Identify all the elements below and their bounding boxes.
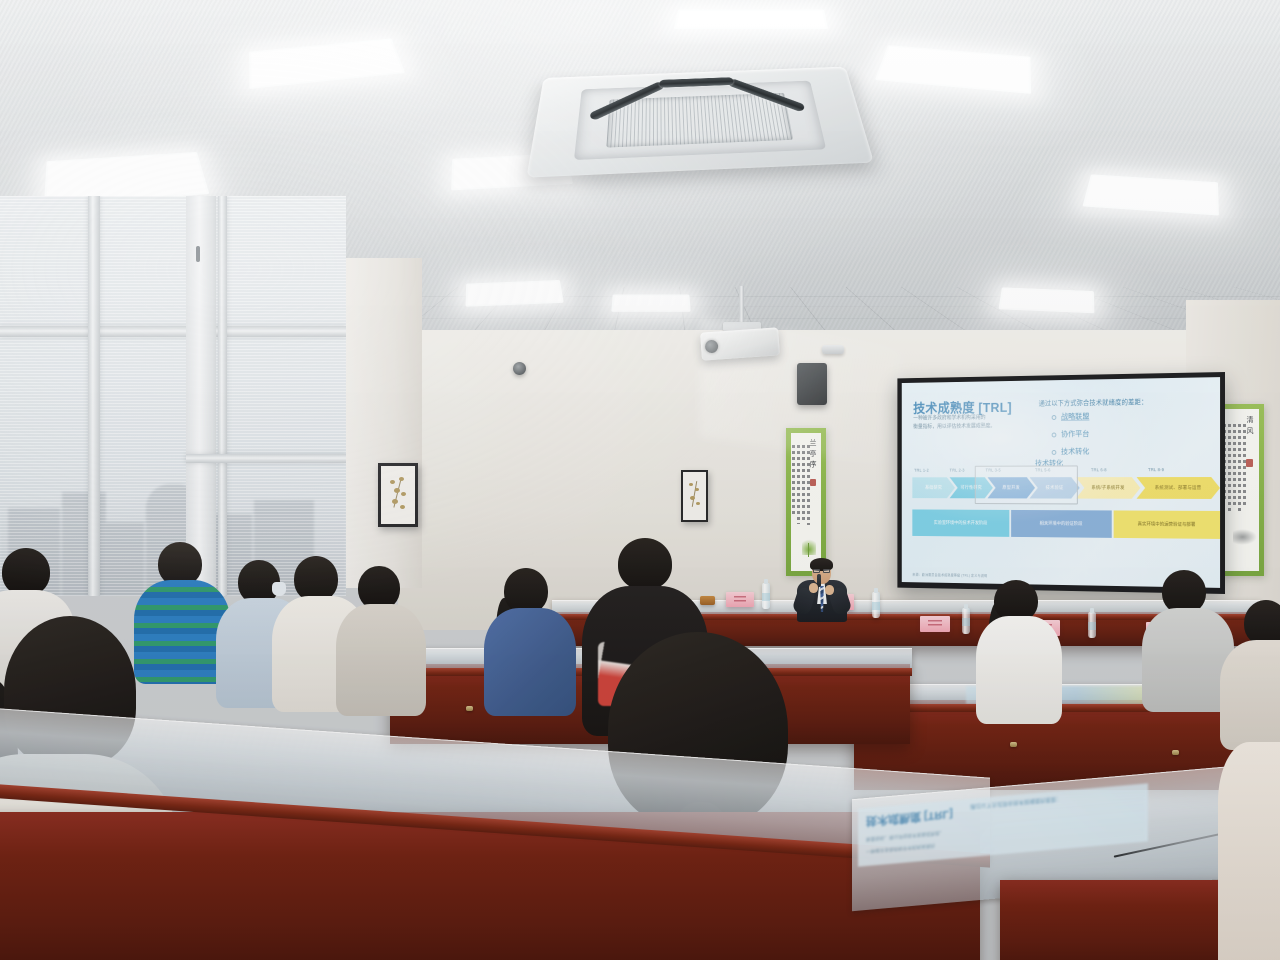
trl-label: TRL 6-8 bbox=[1091, 467, 1107, 472]
slide-reflection: 技术成熟度 [TRL] 通过以下方式弥合技术就绪度的差距： 衡量指标，用以评估技… bbox=[858, 783, 1148, 866]
trl-label: TRL 1-2 bbox=[914, 468, 929, 473]
slide-source-note: 来源：欧洲委员会技术成熟度等级 (TRL) 定义与说明 bbox=[912, 572, 987, 578]
framed-botanical-art bbox=[378, 463, 418, 527]
scroll-brush-mark bbox=[1233, 529, 1257, 545]
ceiling-cassette-air-conditioner bbox=[526, 67, 874, 178]
window-mullion-vertical bbox=[88, 196, 100, 596]
scroll-title-text: 清 风 bbox=[1245, 416, 1255, 435]
table-drawer-knob bbox=[1010, 742, 1017, 747]
window-mullion-vertical bbox=[218, 196, 227, 596]
art-leaf bbox=[695, 488, 699, 491]
reflected-slide-title: 技术成熟度 [TRL] bbox=[866, 806, 953, 830]
glasses-lens-left bbox=[813, 569, 820, 573]
slide-subtitle-line2: 衡量指标，用以评估技术发展成熟度。 bbox=[913, 423, 1028, 433]
slide-bullet: 战略联盟 bbox=[1052, 411, 1090, 422]
scroll-seal-stamp bbox=[1246, 459, 1253, 467]
water-bottle bbox=[872, 592, 880, 618]
art-leaf bbox=[689, 483, 693, 486]
smoke-detector-icon bbox=[822, 345, 844, 354]
glasses-lens-right bbox=[823, 569, 830, 573]
presenter-hand bbox=[825, 585, 834, 595]
art-leaf bbox=[690, 496, 695, 500]
slide-right-heading: 通过以下方式弥合技术就绪度的差距： bbox=[1039, 396, 1148, 407]
scroll-calligraphy-column bbox=[792, 445, 795, 514]
scroll-calligraphy-column bbox=[1238, 424, 1241, 515]
torso bbox=[336, 604, 426, 716]
name-card bbox=[726, 592, 754, 607]
slide-bullet-list: 战略联盟 协作平台 技术转化 bbox=[1052, 411, 1090, 464]
presenter-hand bbox=[809, 583, 818, 593]
trl-label: TRL 2-3 bbox=[950, 468, 965, 473]
trl-band: 相关环境中的验证阶段 bbox=[1011, 510, 1112, 538]
ceiling-light-panel bbox=[674, 10, 828, 29]
face-mask bbox=[272, 582, 286, 596]
head bbox=[618, 538, 672, 590]
ceiling-projector bbox=[700, 327, 780, 360]
projector-lens-icon bbox=[705, 340, 719, 354]
scroll-plant-stem bbox=[808, 543, 809, 557]
window-latch bbox=[196, 246, 200, 262]
scroll-paper: 清 风 bbox=[1221, 409, 1259, 571]
torso bbox=[1218, 742, 1280, 960]
art-leaf bbox=[401, 492, 406, 496]
water-bottle bbox=[962, 608, 970, 634]
slide-content: 技术成熟度 [TRL] 一种被许多政府和学术机构采用的 衡量指标，用以评估技术发… bbox=[902, 377, 1220, 588]
ceiling-light-panel bbox=[465, 280, 563, 307]
window-mullion-horizontal bbox=[186, 454, 346, 463]
window-wall bbox=[0, 196, 346, 596]
art-leaf bbox=[394, 488, 400, 493]
water-bottle bbox=[1088, 612, 1096, 638]
ceiling-light-panel bbox=[998, 287, 1094, 313]
trl-stage-chevron: 系统/子系统开发 bbox=[1076, 477, 1140, 499]
reflected-slide-heading: 通过以下方式弥合技术就绪度的差距： bbox=[970, 795, 1062, 811]
scroll-calligraphy-column bbox=[1228, 424, 1231, 513]
art-leaf bbox=[390, 480, 395, 484]
window-mullion-horizontal bbox=[0, 326, 346, 337]
presenter-glasses-icon bbox=[813, 569, 830, 573]
trl-highlight-box bbox=[975, 465, 1078, 504]
art-leaf bbox=[392, 499, 398, 504]
art-leaf bbox=[400, 505, 405, 509]
head bbox=[2, 548, 50, 596]
scroll-paper: 兰 亭 序 bbox=[791, 433, 821, 571]
projector-mount-pole bbox=[739, 286, 744, 324]
name-card bbox=[920, 616, 950, 632]
ceiling-camera-icon bbox=[513, 362, 526, 375]
ceiling-light-panel bbox=[611, 294, 690, 311]
framed-botanical-art bbox=[681, 470, 708, 522]
trl-band: 真实环境中的运营验证与部署 bbox=[1114, 510, 1220, 539]
scroll-calligraphy-column bbox=[1233, 424, 1236, 505]
scroll-seal-stamp bbox=[810, 479, 816, 486]
roller-shade-texture bbox=[0, 196, 346, 596]
window-frame-post bbox=[186, 196, 216, 596]
reflected-slide-subtitle2: 一种被许多政府和学术机构采用的 bbox=[866, 842, 935, 854]
torso bbox=[484, 608, 576, 716]
art-leaf bbox=[696, 502, 700, 505]
art-matting bbox=[683, 472, 706, 520]
scroll-plant-illustration bbox=[802, 537, 816, 555]
slide-bullet: 技术转化 bbox=[1052, 446, 1090, 457]
table-drawer-knob bbox=[1172, 750, 1179, 755]
torso bbox=[1220, 640, 1280, 750]
scroll-calligraphy-column bbox=[802, 445, 805, 520]
scroll-calligraphy-column bbox=[797, 445, 800, 524]
trl-stage-chevron: 基础研究 bbox=[912, 477, 955, 498]
trl-stage-chevron: 系统测试、部署与运营 bbox=[1137, 477, 1221, 499]
art-leaf bbox=[399, 477, 404, 481]
slide-subtitle: 一种被许多政府和学术机构采用的 衡量指标，用以评估技术发展成熟度。 bbox=[913, 413, 1028, 432]
art-matting bbox=[381, 466, 415, 524]
wall-scroll-left: 兰 亭 序 bbox=[786, 428, 826, 576]
projection-screen[interactable]: 技术成熟度 [TRL] 一种被许多政府和学术机构采用的 衡量指标，用以评估技术发… bbox=[897, 372, 1225, 594]
table-drawer-knob bbox=[466, 706, 473, 711]
water-bottle bbox=[762, 583, 770, 609]
meeting-room-photo: 兰 亭 序 清 风 技术成熟度 [TRL bbox=[0, 0, 1280, 960]
wall-speaker bbox=[797, 363, 827, 405]
torso bbox=[976, 616, 1062, 724]
trl-label: TRL 8-9 bbox=[1148, 467, 1164, 472]
trl-band-row: 实验室环境中的技术开发阶段 相关环境中的验证阶段 真实环境中的运营验证与部署 bbox=[912, 509, 1220, 538]
slide-bullet: 协作平台 bbox=[1052, 428, 1090, 439]
tea-cup bbox=[700, 596, 715, 605]
reflected-slide-subtitle: 衡量指标，用以评估技术发展成熟度。 bbox=[866, 829, 944, 842]
trl-band: 实验室环境中的技术开发阶段 bbox=[912, 509, 1009, 536]
